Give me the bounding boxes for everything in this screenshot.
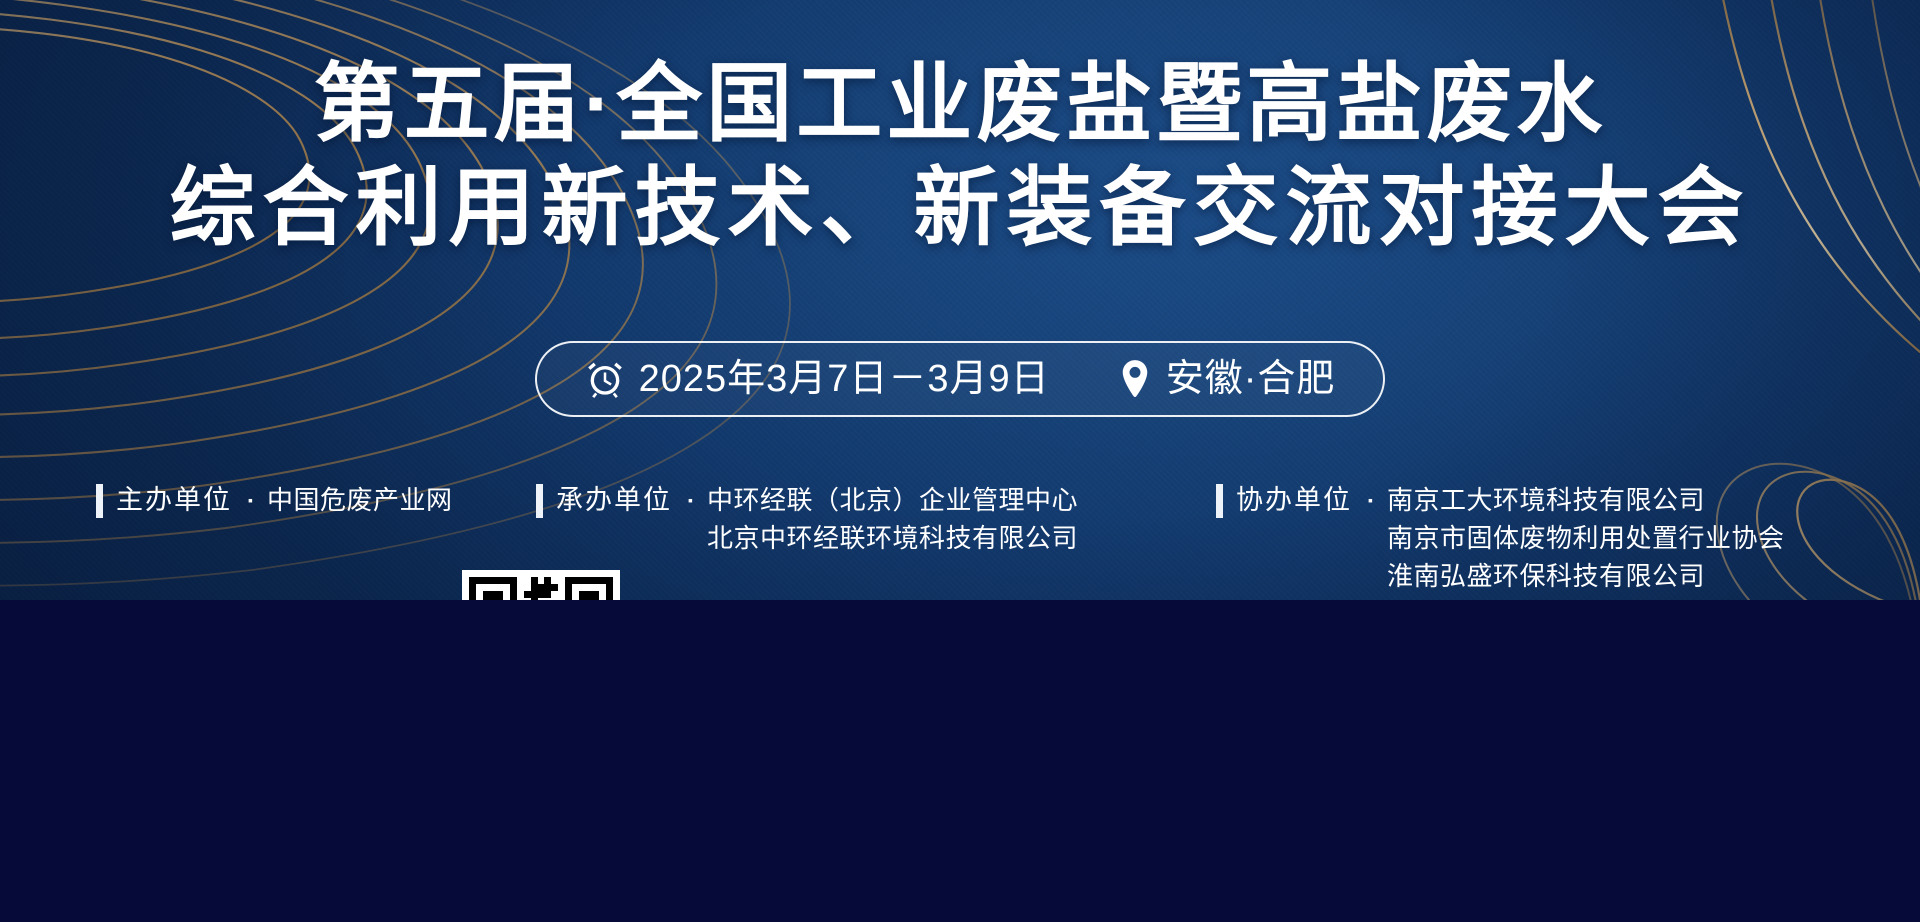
- organizer-separator-icon: ▪: [688, 481, 693, 519]
- organizer-value: 南京工大环境科技有限公司: [1387, 481, 1785, 519]
- conference-date: 2025年3月7日－3月9日: [639, 360, 1050, 398]
- organizer-group-coorganizer: 承办单位 ▪ 中环经联（北京）企业管理中心 北京中环经联环境科技有限公司: [536, 481, 1216, 595]
- conference-banner: 第五届·全国工业废盐暨高盐废水 综合利用新技术、新装备交流对接大会 2025年3…: [0, 0, 1920, 600]
- date-location-pill-wrapper: 2025年3月7日－3月9日 安徽·合肥: [0, 341, 1920, 417]
- accent-bar: [1216, 484, 1223, 518]
- pill-location-item: 安徽·合肥: [1118, 359, 1336, 399]
- organizer-label: 主办单位: [116, 481, 232, 519]
- qr-code-matrix: [469, 577, 613, 600]
- date-location-pill: 2025年3月7日－3月9日 安徽·合肥: [535, 341, 1386, 417]
- organizer-body: 主办单位 ▪ 中国危废产业网: [116, 481, 452, 519]
- map-pin-icon: [1118, 359, 1152, 399]
- organizer-value: 中国危废产业网: [267, 481, 453, 519]
- organizer-separator-icon: ▪: [1368, 481, 1373, 519]
- organizer-body: 协办单位 ▪ 南京工大环境科技有限公司 南京市固体废物利用处置行业协会 淮南弘盛…: [1236, 481, 1784, 595]
- organizer-separator-icon: ▪: [248, 481, 253, 519]
- banner-title: 第五届·全国工业废盐暨高盐废水 综合利用新技术、新装备交流对接大会: [0, 52, 1920, 260]
- qr-code-icon[interactable]: [462, 570, 620, 600]
- title-line-1: 第五届·全国工业废盐暨高盐废水: [0, 52, 1920, 156]
- organizer-label: 协办单位: [1236, 481, 1352, 519]
- organizer-group-supporter: 协办单位 ▪ 南京工大环境科技有限公司 南京市固体废物利用处置行业协会 淮南弘盛…: [1216, 481, 1856, 595]
- organizers-section: 主办单位 ▪ 中国危废产业网 承办单位 ▪ 中环经联（北京）企业管理中心 北京中…: [96, 481, 1856, 595]
- accent-bar: [536, 484, 543, 518]
- title-line-2: 综合利用新技术、新装备交流对接大会: [0, 156, 1920, 260]
- organizer-values: 中环经联（北京）企业管理中心 北京中环经联环境科技有限公司: [707, 481, 1078, 557]
- organizer-value: 南京市固体废物利用处置行业协会: [1387, 519, 1785, 557]
- organizer-value: 中环经联（北京）企业管理中心: [707, 481, 1078, 519]
- organizer-body: 承办单位 ▪ 中环经联（北京）企业管理中心 北京中环经联环境科技有限公司: [556, 481, 1078, 557]
- accent-bar: [96, 484, 103, 518]
- conference-location: 安徽·合肥: [1166, 360, 1336, 398]
- organizer-values: 南京工大环境科技有限公司 南京市固体废物利用处置行业协会 淮南弘盛环保科技有限公…: [1387, 481, 1785, 595]
- organizer-label: 承办单位: [556, 481, 672, 519]
- organizer-values: 中国危废产业网: [267, 481, 453, 519]
- lower-panel: [0, 600, 1920, 922]
- alarm-clock-icon: [585, 359, 625, 399]
- pill-date-item: 2025年3月7日－3月9日: [585, 359, 1050, 399]
- page-root: 第五届·全国工业废盐暨高盐废水 综合利用新技术、新装备交流对接大会 2025年3…: [0, 0, 1920, 922]
- organizer-value: 淮南弘盛环保科技有限公司: [1387, 557, 1785, 595]
- organizer-value: 北京中环经联环境科技有限公司: [707, 519, 1078, 557]
